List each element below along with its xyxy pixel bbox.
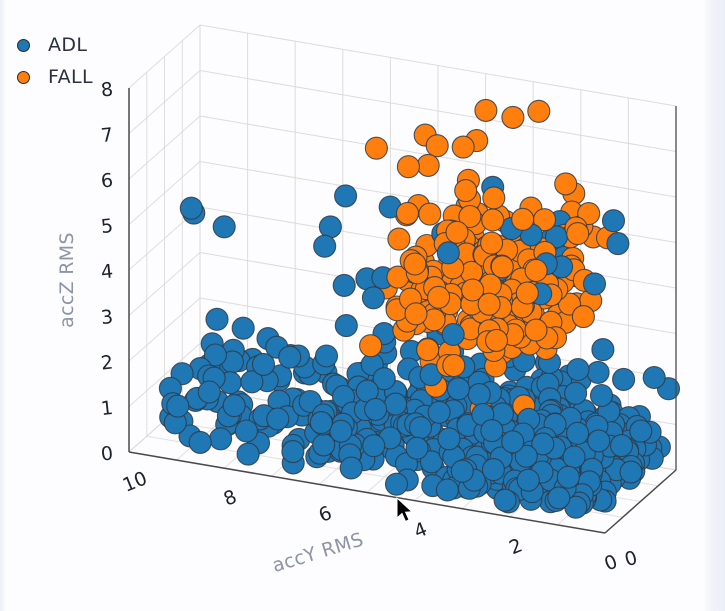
scatter-point bbox=[167, 395, 189, 417]
scatter-point bbox=[592, 339, 614, 361]
scatter-point bbox=[455, 180, 477, 202]
scatter-point bbox=[210, 428, 232, 450]
scatter-point bbox=[405, 303, 427, 325]
scatter-point bbox=[446, 221, 468, 243]
scatter-point bbox=[555, 173, 577, 195]
scatter-point bbox=[607, 233, 629, 255]
scatter-point bbox=[494, 489, 516, 511]
scatter-point bbox=[481, 420, 503, 442]
scatter-point bbox=[643, 367, 665, 389]
scatter-point bbox=[502, 431, 524, 453]
scatter-point bbox=[588, 430, 610, 452]
scatter-point bbox=[548, 487, 570, 509]
scatter-point bbox=[335, 185, 357, 207]
scatter-point bbox=[397, 156, 419, 178]
scatter-point bbox=[613, 368, 635, 390]
z-tick-2: 2 bbox=[100, 351, 114, 374]
scatter-point bbox=[630, 420, 652, 442]
scatter-point bbox=[319, 216, 341, 238]
scatter-point bbox=[406, 437, 428, 459]
scatter-point bbox=[512, 208, 534, 230]
scatter-point bbox=[478, 293, 500, 315]
scatter-point bbox=[428, 401, 450, 423]
z-tick-4: 4 bbox=[100, 260, 114, 283]
scatter-point bbox=[567, 359, 589, 381]
scatter-point bbox=[198, 381, 220, 403]
z-axis-title: accZ RMS bbox=[56, 232, 78, 328]
scatter-point bbox=[180, 197, 202, 219]
scatter-point bbox=[397, 202, 419, 224]
z-tick-6: 6 bbox=[100, 169, 114, 192]
scatter-point bbox=[557, 466, 579, 488]
scatter-point bbox=[410, 417, 432, 439]
scatter-point bbox=[620, 461, 642, 483]
chart-legend: ADL FALL bbox=[10, 34, 93, 88]
z-tick-3: 3 bbox=[100, 306, 114, 329]
scatter-point bbox=[437, 242, 459, 264]
scatter-point bbox=[428, 286, 450, 308]
scatter-point bbox=[603, 210, 625, 232]
scatter-point bbox=[452, 136, 474, 158]
scatter-point bbox=[436, 479, 458, 501]
z-tick-0: 0 bbox=[100, 442, 114, 465]
scatter-point bbox=[591, 385, 613, 407]
scatter-point bbox=[404, 253, 426, 275]
scatter-point bbox=[282, 441, 304, 463]
scatter-point bbox=[443, 355, 465, 377]
plot-canvas: ADL FALL 012345678108642010accY RMSaccZ … bbox=[0, 0, 725, 611]
z-tick-5: 5 bbox=[100, 215, 114, 238]
scatter-point bbox=[316, 345, 338, 367]
scatter-point bbox=[330, 420, 352, 442]
scatter-point bbox=[213, 216, 235, 238]
scatter-point bbox=[365, 398, 387, 420]
z-tick-8: 8 bbox=[100, 78, 114, 101]
scatter-point bbox=[475, 99, 497, 121]
scatter-point bbox=[482, 209, 504, 231]
legend-label-fall: FALL bbox=[48, 66, 93, 88]
scatter-point bbox=[517, 469, 539, 491]
scatter-point bbox=[567, 223, 589, 245]
scatter-point bbox=[442, 324, 464, 346]
scatter-point bbox=[267, 408, 289, 430]
scatter-point bbox=[486, 329, 508, 351]
z-tick-1: 1 bbox=[100, 397, 114, 420]
scatter-point bbox=[468, 384, 490, 406]
scatter-point bbox=[481, 232, 503, 254]
scatter-point bbox=[565, 382, 587, 404]
scatter-point bbox=[388, 228, 410, 250]
scatter-point bbox=[279, 346, 301, 368]
scatter-point bbox=[447, 378, 469, 400]
scatter-point bbox=[525, 319, 547, 341]
scatter-point bbox=[360, 335, 382, 357]
scatter-point bbox=[587, 361, 609, 383]
scatter-point bbox=[451, 460, 473, 482]
scatter-point bbox=[333, 274, 355, 296]
scatter-point bbox=[516, 282, 538, 304]
scatter-point bbox=[528, 100, 550, 122]
legend-item-fall[interactable]: FALL bbox=[10, 66, 93, 88]
legend-marker-fall bbox=[17, 71, 30, 84]
scatter-point bbox=[483, 187, 505, 209]
scatter-point bbox=[567, 422, 589, 444]
legend-marker-adl bbox=[17, 39, 30, 52]
scatter-point bbox=[417, 154, 439, 176]
scatter-point bbox=[253, 353, 275, 375]
scatter-point bbox=[417, 339, 439, 361]
scatter-point bbox=[362, 287, 384, 309]
legend-label-adl: ADL bbox=[48, 34, 87, 56]
scatter-point bbox=[426, 135, 448, 157]
scatter-point bbox=[385, 393, 407, 415]
scatter-point bbox=[310, 412, 332, 434]
scatter-point bbox=[340, 457, 362, 479]
z-tick-7: 7 bbox=[100, 124, 114, 147]
scatter-point bbox=[223, 395, 245, 417]
scatter-point bbox=[365, 137, 387, 159]
scatter-point bbox=[419, 203, 441, 225]
scatter-point bbox=[237, 443, 259, 465]
scatter-point bbox=[206, 308, 228, 330]
scatter-point bbox=[232, 317, 254, 339]
scatter-point bbox=[563, 446, 585, 468]
scatter-point bbox=[438, 428, 460, 450]
scatter-point bbox=[611, 435, 633, 457]
legend-item-adl[interactable]: ADL bbox=[10, 34, 93, 56]
scatter-point bbox=[525, 260, 547, 282]
scatter-point bbox=[572, 306, 594, 328]
scatter-point bbox=[386, 473, 408, 495]
scatter-point bbox=[314, 235, 336, 257]
scatter-point bbox=[189, 431, 211, 453]
scatter-point bbox=[235, 420, 257, 442]
scatter-point bbox=[335, 315, 357, 337]
scatter-point bbox=[584, 273, 606, 295]
data-points bbox=[159, 99, 679, 518]
scatter-point bbox=[363, 435, 385, 457]
scatter-point bbox=[482, 459, 504, 481]
scatter-point bbox=[502, 106, 524, 128]
scatter-point bbox=[491, 256, 513, 278]
